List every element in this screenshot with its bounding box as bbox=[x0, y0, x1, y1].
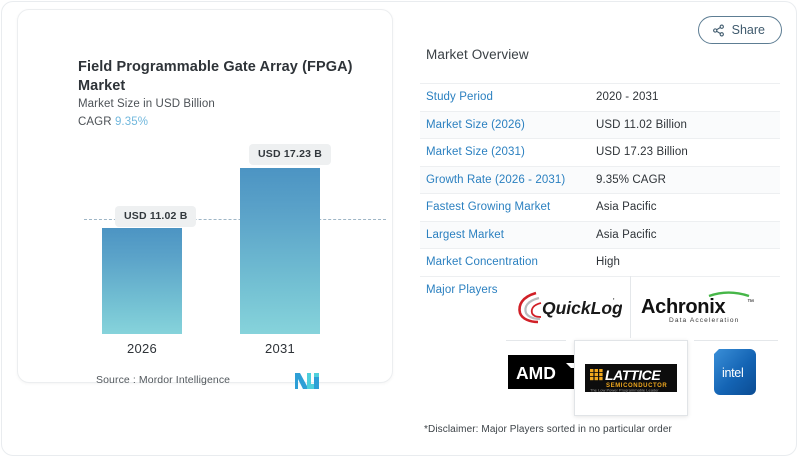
grid-divider-horizontal-right bbox=[694, 340, 778, 341]
player-cell-achronix[interactable]: Achronix ™ Data Acceleration bbox=[634, 278, 760, 336]
row-key: Fastest Growing Market bbox=[420, 201, 596, 213]
market-overview-title: Market Overview bbox=[426, 47, 529, 62]
major-players-label: Major Players bbox=[426, 284, 498, 296]
svg-text:AMD: AMD bbox=[516, 363, 556, 383]
share-button-label: Share bbox=[732, 23, 765, 37]
bar-chart-plot: USD 11.02 B USD 17.23 B 2026 2031 bbox=[18, 10, 394, 384]
x-axis-tick-2031: 2031 bbox=[220, 341, 340, 356]
row-key: Growth Rate (2026 - 2031) bbox=[420, 174, 596, 186]
row-value: USD 11.02 Billion bbox=[596, 119, 687, 131]
row-key: Study Period bbox=[420, 91, 596, 103]
bar-value-label-2031: USD 17.23 B bbox=[249, 144, 331, 165]
bar-value-label-2026: USD 11.02 B bbox=[115, 206, 196, 227]
chart-card: Field Programmable Gate Array (FPGA) Mar… bbox=[17, 9, 393, 383]
row-key: Market Size (2026) bbox=[420, 119, 596, 131]
table-row: Market Size (2026) USD 11.02 Billion bbox=[420, 112, 780, 140]
row-value: High bbox=[596, 256, 620, 268]
share-button[interactable]: Share bbox=[698, 16, 782, 44]
row-value: USD 17.23 Billion bbox=[596, 146, 688, 158]
grid-divider-vertical-top bbox=[630, 276, 631, 338]
svg-text:intel: intel bbox=[722, 366, 743, 380]
row-key: Largest Market bbox=[420, 229, 596, 241]
svg-text:Data Acceleration: Data Acceleration bbox=[669, 317, 739, 324]
table-row: Fastest Growing Market Asia Pacific bbox=[420, 194, 780, 222]
disclaimer-text: *Disclaimer: Major Players sorted in no … bbox=[424, 424, 672, 435]
table-row: Study Period 2020 - 2031 bbox=[420, 83, 780, 112]
quicklogic-logo: QuickLogic ' bbox=[514, 289, 622, 325]
svg-text:LATTICE: LATTICE bbox=[605, 367, 661, 383]
svg-text:Achronix: Achronix bbox=[641, 296, 725, 318]
major-players-logo-grid: QuickLogic ' Achronix ™ Data Acceleratio… bbox=[506, 272, 778, 404]
svg-text:The Low Power Programmable Lea: The Low Power Programmable Leader bbox=[590, 387, 659, 392]
row-key: Market Size (2031) bbox=[420, 146, 596, 158]
mordor-intelligence-logo bbox=[295, 373, 322, 389]
row-value: 2020 - 2031 bbox=[596, 91, 659, 103]
player-cell-intel[interactable]: intel bbox=[692, 346, 778, 398]
table-row: Largest Market Asia Pacific bbox=[420, 222, 780, 250]
svg-text:™: ™ bbox=[747, 299, 754, 306]
row-value: Asia Pacific bbox=[596, 201, 657, 213]
svg-text:QuickLogic: QuickLogic bbox=[542, 298, 622, 318]
intel-logo: intel bbox=[714, 349, 756, 395]
row-value: 9.35% CAGR bbox=[596, 174, 666, 186]
bar-2031[interactable] bbox=[240, 168, 320, 334]
achronix-logo: Achronix ™ Data Acceleration bbox=[637, 287, 757, 327]
x-axis-tick-2026: 2026 bbox=[82, 341, 202, 356]
market-overview-table: Study Period 2020 - 2031 Market Size (20… bbox=[420, 83, 780, 277]
grid-divider-horizontal-left bbox=[506, 340, 566, 341]
player-cell-lattice[interactable]: LATTICE SEMICONDUCTOR The Low Power Prog… bbox=[574, 340, 688, 416]
table-row: Market Size (2031) USD 17.23 Billion bbox=[420, 139, 780, 167]
lattice-logo: LATTICE SEMICONDUCTOR The Low Power Prog… bbox=[585, 362, 677, 394]
row-key: Market Concentration bbox=[420, 256, 596, 268]
player-cell-quicklogic[interactable]: QuickLogic ' bbox=[508, 278, 628, 336]
bar-2026[interactable] bbox=[102, 228, 182, 334]
table-row: Growth Rate (2026 - 2031) 9.35% CAGR bbox=[420, 167, 780, 195]
row-value: Asia Pacific bbox=[596, 229, 657, 241]
source-text: Source : Mordor Intelligence bbox=[96, 374, 230, 386]
share-nodes-icon bbox=[712, 24, 725, 37]
